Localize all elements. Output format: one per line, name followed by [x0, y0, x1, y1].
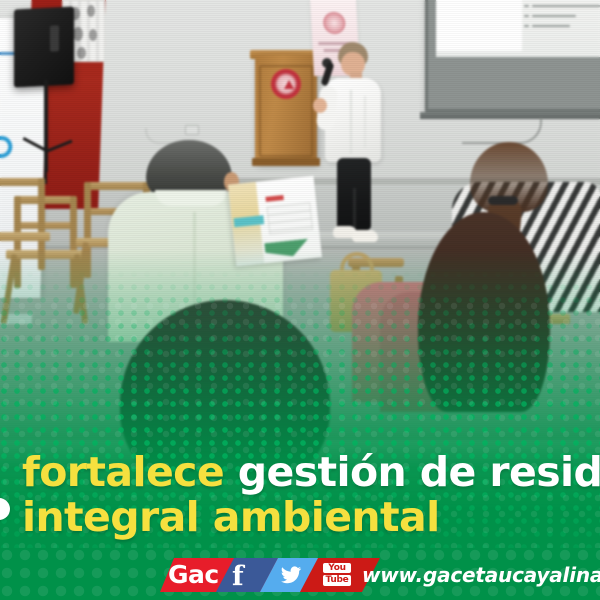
bullet-dot-icon	[0, 498, 10, 520]
headline-line-1-highlight: fortalece	[22, 448, 238, 496]
screen-cable	[462, 118, 542, 144]
speaker-handle	[50, 25, 59, 51]
audience-man-collar	[155, 190, 227, 206]
projected-slide	[436, 0, 600, 57]
wall-outlet	[185, 125, 199, 135]
youtube-label-bottom: Tube	[323, 575, 351, 586]
youtube-icon[interactable]: You Tube	[323, 563, 351, 587]
printed-document	[228, 176, 322, 267]
institution-emblem-icon	[271, 69, 301, 99]
youtube-label-top: You	[323, 563, 351, 573]
banner-logo-circle-icon	[0, 136, 13, 158]
facebook-icon[interactable]: f	[232, 561, 244, 592]
presenter-shoe-right	[352, 230, 378, 242]
hair-tie	[488, 196, 518, 205]
headline-line-1: fortalece gestión de residuos	[22, 452, 600, 494]
slide-graphic	[436, 0, 522, 51]
brand-label: Gac	[168, 560, 219, 589]
website-url[interactable]: www.gacetaucayalina.com	[362, 563, 600, 587]
podium	[255, 55, 317, 163]
social-media-graphic: fortalece gestión de residuos integral a…	[0, 0, 600, 600]
presenter-hand	[313, 98, 327, 113]
footer-bar: Gac f You Tube www.gacetaucayalina.com	[0, 548, 600, 600]
projection-screen	[425, 0, 600, 112]
flag-seal-icon	[323, 12, 346, 34]
podium-base	[252, 158, 320, 166]
headline-block: fortalece gestión de residuos integral a…	[0, 452, 600, 539]
twitter-icon[interactable]	[278, 564, 304, 586]
headline-line-1-main: gestión de residuos	[238, 448, 600, 496]
loudspeaker	[14, 6, 74, 87]
headline-line-2: integral ambiental	[22, 497, 600, 539]
